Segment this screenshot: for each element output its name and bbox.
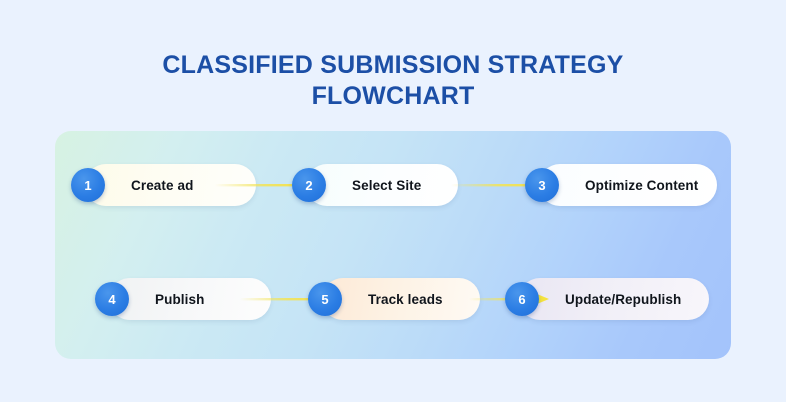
flow-step-5-badge: 5 bbox=[308, 282, 342, 316]
flow-step-2-label: Select Site bbox=[352, 178, 421, 193]
flow-step-6-label: Update/Republish bbox=[565, 292, 681, 307]
flow-step-5-label: Track leads bbox=[368, 292, 443, 307]
flow-step-4-label: Publish bbox=[155, 292, 204, 307]
flow-step-3-pill[interactable]: Optimize Content bbox=[539, 164, 717, 206]
flow-row-1: Create ad 1 Select Site 2 bbox=[55, 162, 731, 208]
flow-step-3-badge: 3 bbox=[525, 168, 559, 202]
flow-step-1-badge: 1 bbox=[71, 168, 105, 202]
flow-step-4-badge: 4 bbox=[95, 282, 129, 316]
page-title-line-2: Flowchart bbox=[0, 81, 786, 112]
flow-step-1-label: Create ad bbox=[131, 178, 193, 193]
flow-step-2-pill[interactable]: Select Site bbox=[306, 164, 458, 206]
flow-step-2-badge: 2 bbox=[292, 168, 326, 202]
page-title: Classified Submission Strategy Flowchart bbox=[0, 50, 786, 111]
flow-step-5-pill[interactable]: Track leads bbox=[322, 278, 480, 320]
page-title-line-1: Classified Submission Strategy bbox=[0, 50, 786, 81]
flow-step-3-label: Optimize Content bbox=[585, 178, 698, 193]
flow-row-2: Publish 4 Track leads 5 bbox=[55, 276, 731, 322]
flowchart-panel: Create ad 1 Select Site 2 bbox=[55, 131, 731, 359]
flow-step-6-badge: 6 bbox=[505, 282, 539, 316]
